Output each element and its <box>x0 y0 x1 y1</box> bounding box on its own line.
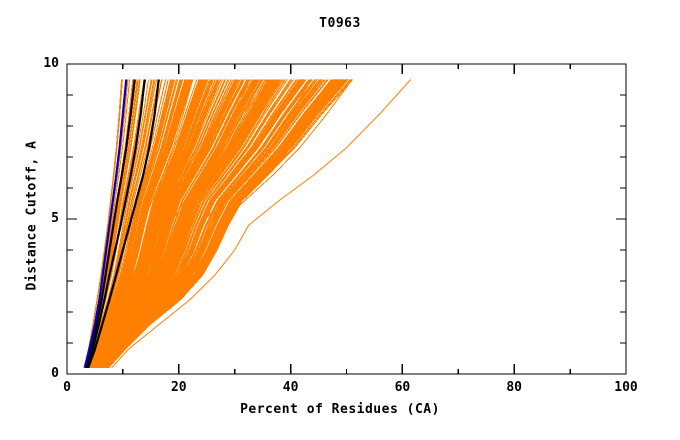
x-tick-label: 60 <box>382 380 422 395</box>
x-tick-label: 80 <box>494 380 534 395</box>
x-tick-label: 0 <box>47 380 87 395</box>
x-tick-label: 20 <box>159 380 199 395</box>
prediction-curves-layer <box>84 80 411 368</box>
x-axis-label: Percent of Residues (CA) <box>0 402 680 417</box>
y-tick-label: 10 <box>33 56 59 71</box>
page-title: T0963 <box>0 16 680 31</box>
x-tick-label: 100 <box>606 380 646 395</box>
plot-figure: T0963 Distance Cutoff, A Percent of Resi… <box>0 0 680 440</box>
x-tick-label: 40 <box>271 380 311 395</box>
chart-canvas <box>0 0 680 440</box>
y-tick-label: 0 <box>33 366 59 381</box>
y-tick-label: 5 <box>33 211 59 226</box>
